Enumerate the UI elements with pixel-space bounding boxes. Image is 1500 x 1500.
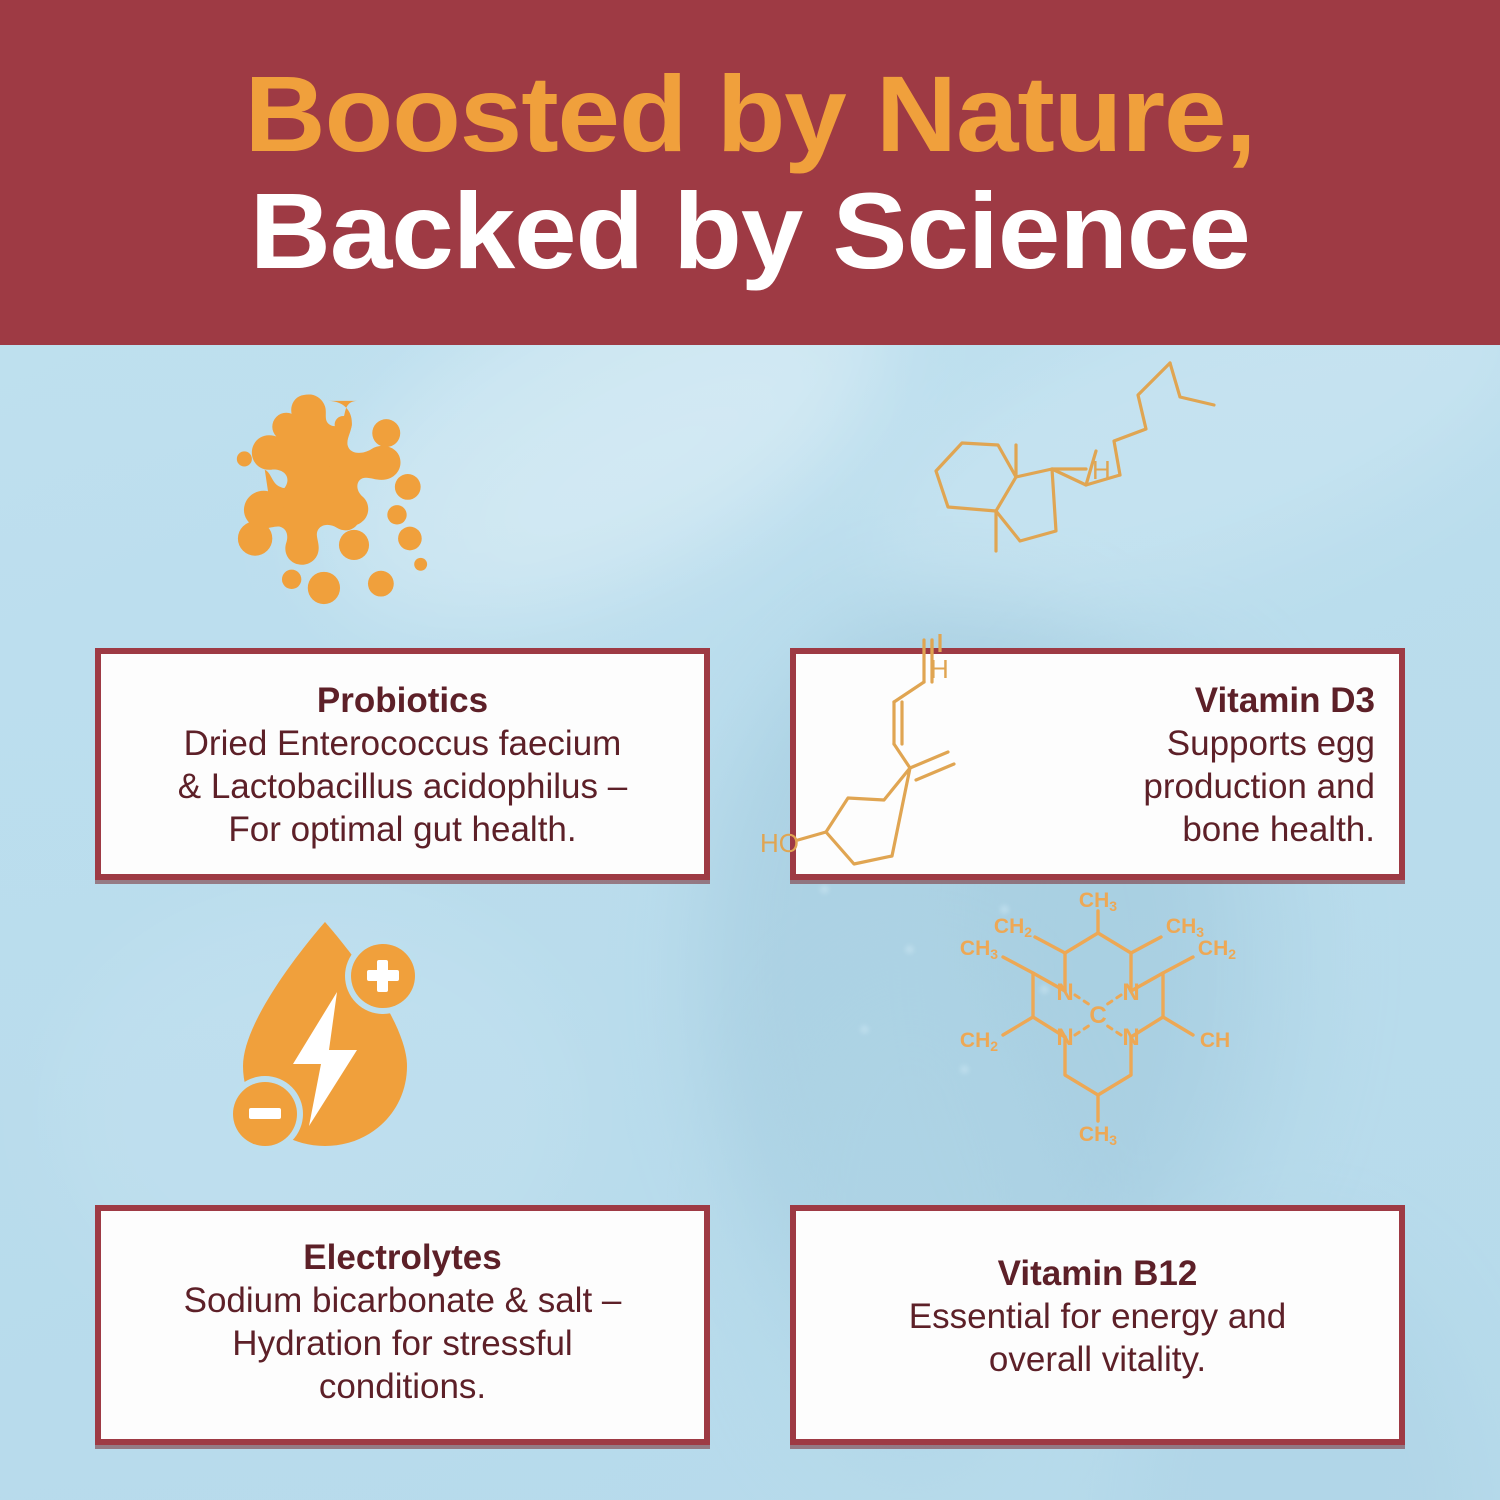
molecule-label-n: N (1122, 1024, 1139, 1051)
desc-line: conditions. (125, 1366, 680, 1409)
molecule-label-ch3-top: CH3 (1078, 889, 1116, 914)
feature-cell-vitamin-b12: N N N N C CH3 CH2 CH3 CH3 CH2 CH2 CH CH3 (790, 885, 1405, 1445)
card-title-probiotics: Probiotics (125, 680, 680, 721)
molecule-label-h: H (1092, 455, 1111, 485)
desc-line: Hydration for stressful (125, 1323, 680, 1366)
molecule-label-ch3-bottom: CH3 (1078, 1123, 1116, 1148)
icon-slot-probiotics (95, 345, 710, 645)
molecule-label-n: N (1056, 1024, 1073, 1051)
feature-cell-vitamin-d3: H (790, 345, 1405, 880)
card-description-vitamin-d3: Supports egg production and bone health. (1100, 723, 1375, 851)
molecule-label-n: N (1122, 979, 1139, 1006)
card-vitamin-b12: Vitamin B12 Essential for energy and ove… (790, 1205, 1405, 1445)
icon-slot-vitamin-b12: N N N N C CH3 CH2 CH3 CH3 CH2 CH2 CH CH3 (790, 885, 1405, 1185)
bacteria-cluster-icon (225, 388, 440, 603)
molecule-label-ch2-right: CH2 (1197, 937, 1235, 962)
desc-line: bone health. (1100, 809, 1375, 852)
molecule-label-ch2-top-left: CH2 (993, 915, 1031, 940)
icon-slot-electrolytes (95, 885, 710, 1185)
card-description-vitamin-b12: Essential for energy and overall vitalit… (820, 1296, 1375, 1381)
desc-line: Essential for energy and (820, 1296, 1375, 1339)
header-title-line-1: Boosted by Nature, (244, 59, 1255, 169)
desc-line: Supports egg (1100, 723, 1375, 766)
card-electrolytes: Electrolytes Sodium bicarbonate & salt –… (95, 1205, 710, 1445)
card-vitamin-d3: HO H Vitamin D3 Supports egg production … (790, 648, 1405, 880)
electrolyte-droplet-icon (225, 918, 425, 1153)
desc-line: Sodium bicarbonate & salt – (125, 1280, 680, 1323)
card-description-probiotics: Dried Enterococcus faecium & Lactobacill… (125, 723, 680, 851)
header-title-line-2: Backed by Science (250, 176, 1250, 286)
card-probiotics: Probiotics Dried Enterococcus faecium & … (95, 648, 710, 880)
molecule-label-ch2-left: CH2 (959, 1029, 997, 1054)
desc-line: For optimal gut health. (125, 809, 680, 852)
molecule-label-ch3-top-right: CH3 (1165, 915, 1203, 940)
card-description-electrolytes: Sodium bicarbonate & salt – Hydration fo… (125, 1280, 680, 1408)
cholecalciferol-molecule-icon: H (870, 345, 1250, 645)
desc-line: production and (1100, 766, 1375, 809)
feature-cell-probiotics: Probiotics Dried Enterococcus faecium & … (95, 345, 710, 880)
card-title-electrolytes: Electrolytes (125, 1237, 680, 1278)
minus-badge-icon (227, 1076, 303, 1152)
header-banner: Boosted by Nature, Backed by Science (0, 0, 1500, 345)
feature-card-grid: Probiotics Dried Enterococcus faecium & … (0, 345, 1500, 1500)
desc-line: Dried Enterococcus faecium (125, 723, 680, 766)
molecule-label-n: N (1056, 979, 1073, 1006)
molecule-label-ho: HO (760, 828, 799, 858)
feature-cell-electrolytes: Electrolytes Sodium bicarbonate & salt –… (95, 885, 710, 1445)
molecule-label-ch3-left: CH3 (959, 937, 997, 962)
desc-line: & Lactobacillus acidophilus – (125, 766, 680, 809)
plus-badge-icon (345, 938, 421, 1014)
card-title-vitamin-d3: Vitamin D3 (1100, 680, 1375, 721)
molecule-label-ch-right: CH (1199, 1029, 1229, 1052)
molecule-label-center: C (1089, 1002, 1106, 1029)
card-title-vitamin-b12: Vitamin B12 (820, 1253, 1375, 1294)
icon-slot-vitamin-d3: H (790, 345, 1405, 645)
lightning-bolt-icon (293, 992, 357, 1126)
cobalamin-molecule-icon: N N N N C CH3 CH2 CH3 CH3 CH2 CH2 CH CH3 (953, 895, 1243, 1175)
desc-line: overall vitality. (820, 1339, 1375, 1382)
